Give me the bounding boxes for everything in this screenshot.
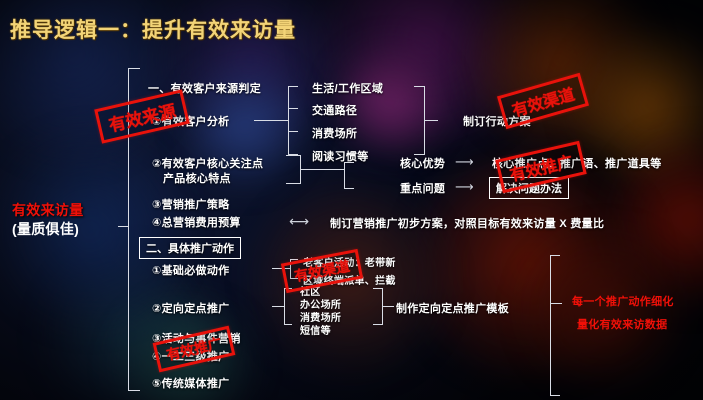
source-item-2: 交通路径: [312, 102, 357, 118]
source-tick: [288, 108, 298, 109]
focus-row-2-label: 重点问题: [400, 180, 445, 196]
source-tick: [288, 86, 298, 87]
source-tick: [288, 131, 298, 132]
slide-canvas: 推导逻辑一：提升有效来访量 有效来访量 (量质俱佳) 一、有效客户来源判定 ①有…: [0, 0, 703, 400]
source-brace-spine: [288, 86, 289, 154]
vignette-overlay: [0, 0, 703, 400]
focus-brace-tick: [344, 162, 354, 163]
budget-row-text: 制订营销推广初步方案，对照目标有效来访量 X 费量比: [330, 215, 604, 231]
trunk-cap-top: [128, 68, 140, 69]
page-title: 推导逻辑一：提升有效来访量: [10, 14, 296, 44]
source-connector: [254, 120, 288, 121]
arrow-right-icon: ⟶: [455, 154, 474, 170]
source-merge-tick: [414, 86, 425, 87]
section-one-item-3: ③营销推广策略: [152, 196, 229, 212]
targeted-merge-tick: [373, 324, 383, 325]
right-note-line-2: 量化有效来访数据: [577, 316, 667, 332]
targeted-result: 制作定向定点推广模板: [396, 300, 509, 316]
section-two-item-2: ②定向定点推广: [152, 300, 229, 316]
targeted-brace-spine: [284, 288, 285, 324]
focus-fan-out: [300, 169, 310, 170]
focus-brace-spine: [344, 162, 345, 188]
right-brace-out: [550, 303, 562, 304]
source-item-4: 阅读习惯等: [312, 148, 369, 164]
focus-brace-in: [310, 169, 344, 170]
focus-fan-top: [286, 155, 300, 156]
right-note-line-1: 每一个推广动作细化: [572, 293, 674, 309]
source-merge-out: [424, 120, 438, 121]
right-brace-tick: [550, 255, 560, 256]
focus-brace-tick: [344, 188, 354, 189]
arrow-bidirectional-icon: ⟷: [289, 213, 309, 230]
source-item-3: 消费场所: [312, 125, 357, 141]
targeted-brace-tick: [284, 324, 292, 325]
section-one-item-2b: 产品核心特点: [163, 170, 231, 186]
root-label-main: 有效来访量: [12, 200, 84, 220]
section-one-item-2: ②有效客户核心关注点: [152, 155, 263, 171]
section-two-item-1: ①基础必做动作: [152, 262, 229, 278]
targeted-merge-tick: [373, 288, 383, 289]
source-item-1: 生活/工作区域: [312, 80, 383, 96]
right-brace-tick: [550, 395, 560, 396]
focus-row-1-label: 核心优势: [400, 155, 445, 171]
arrow-right-icon: ⟶: [455, 179, 474, 195]
targeted-item-4: 短信等: [300, 322, 331, 337]
section-two-heading: 二、具体推广动作: [139, 237, 241, 259]
targeted-merge-out: [382, 306, 394, 307]
trunk-cap-bottom: [128, 390, 140, 391]
trunk-root-tick: [118, 226, 129, 227]
section-one-item-4: ④总营销费用预算: [152, 214, 241, 230]
section-two-item-5: ⑤传统媒体推广: [152, 375, 229, 391]
targeted-connector: [272, 306, 284, 307]
root-label-sub: (量质俱佳): [12, 219, 79, 239]
focus-fan-bottom: [286, 183, 300, 184]
right-brace-spine: [550, 255, 551, 395]
